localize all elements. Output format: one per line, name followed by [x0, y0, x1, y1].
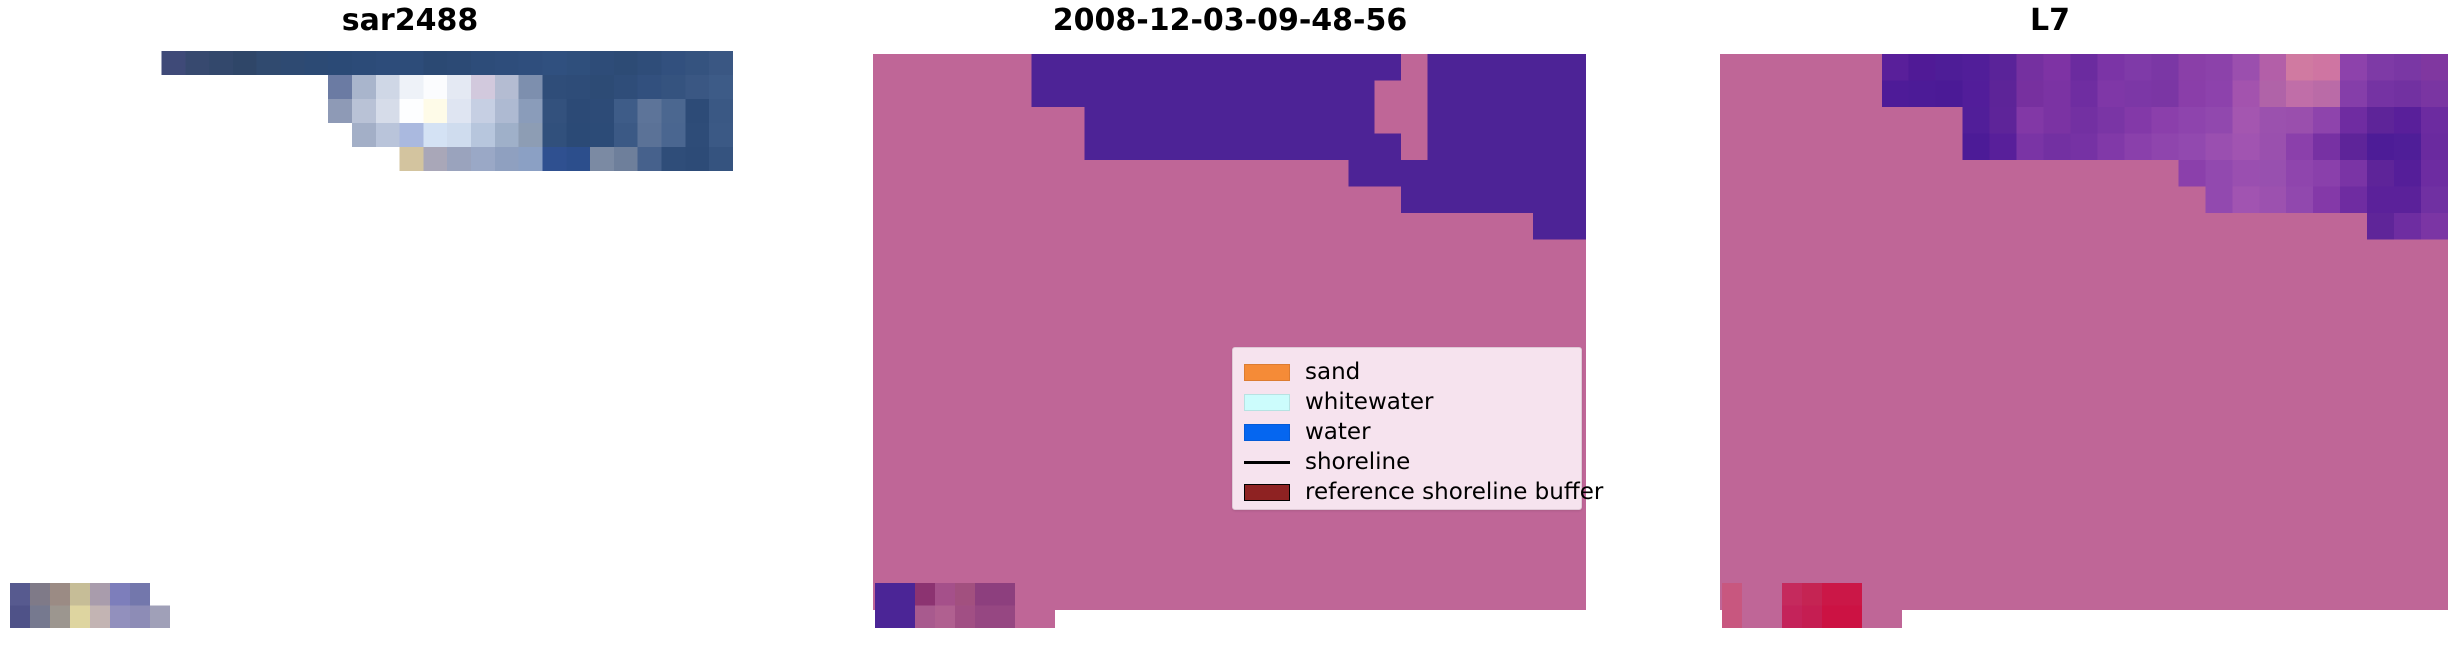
legend-item-shoreline[interactable]: shoreline	[1244, 447, 1570, 477]
legend-swatch-whitewater-icon	[1244, 394, 1290, 411]
legend-swatch-sand-icon	[1244, 364, 1290, 381]
legend-swatch-water-icon	[1244, 424, 1290, 441]
raster-sar	[90, 51, 733, 171]
colorbar-strip-sar	[10, 583, 190, 628]
legend-item-reference-shoreline-buffer[interactable]: reference shoreline buffer	[1244, 477, 1570, 507]
colorbar-strip-classified-date	[875, 583, 1055, 628]
legend-label: reference shoreline buffer	[1305, 479, 1603, 505]
panel-title-sar: sar2488	[0, 2, 820, 40]
legend[interactable]: sandwhitewaterwatershorelinereference sh…	[1232, 347, 1582, 510]
panel-title-l7: L7	[1640, 2, 2460, 40]
legend-label: whitewater	[1305, 389, 1433, 415]
legend-label: shoreline	[1305, 449, 1410, 475]
legend-item-water[interactable]: water	[1244, 417, 1570, 447]
legend-item-whitewater[interactable]: whitewater	[1244, 387, 1570, 417]
panel-sar: sar2488	[0, 0, 820, 647]
legend-item-sand[interactable]: sand	[1244, 357, 1570, 387]
legend-swatch-shoreline-icon	[1244, 461, 1290, 464]
colorbar-strip-l7	[1722, 583, 1902, 628]
legend-label: sand	[1305, 359, 1360, 385]
figure-root: sar2488 2008-12-03-09-48-56 L7 sandwhite…	[0, 0, 2460, 647]
legend-swatch-reference-shoreline-buffer-icon	[1244, 484, 1290, 501]
legend-label: water	[1305, 419, 1371, 445]
raster-l7	[1720, 54, 2448, 610]
raster-classified-date	[873, 54, 1586, 610]
panel-title-classified-date: 2008-12-03-09-48-56	[820, 2, 1640, 40]
